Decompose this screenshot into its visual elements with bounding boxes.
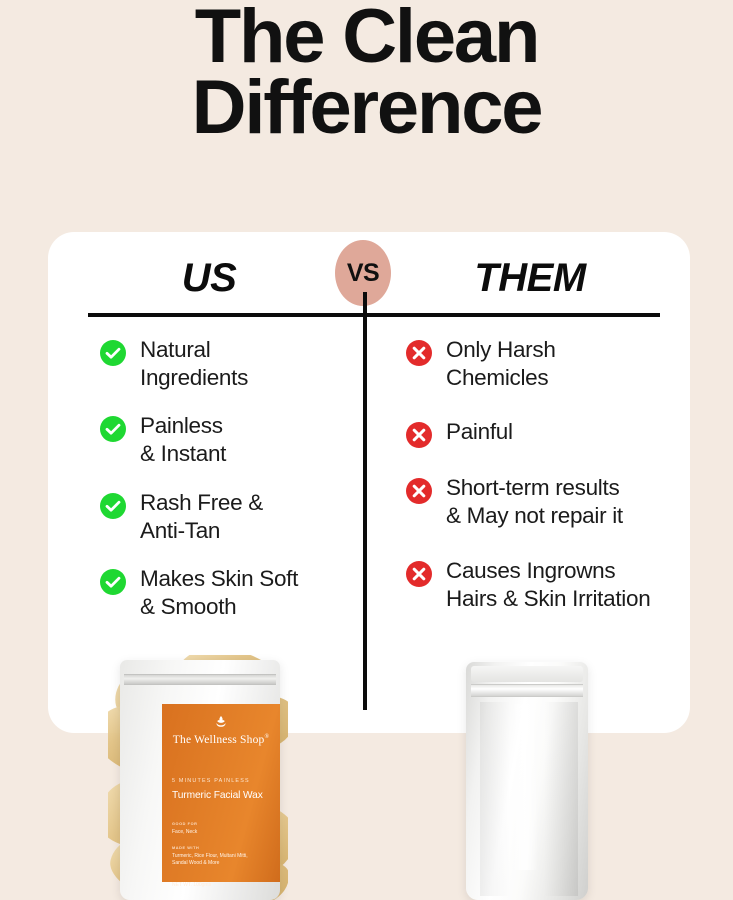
list-item-label: Only Harsh Chemicles: [446, 336, 556, 392]
comparison-card: US VS THEM Natural Ingredients Painless: [48, 232, 690, 733]
cross-circle-icon: [406, 422, 432, 448]
brand-name: The Wellness Shop®: [162, 734, 280, 746]
list-item: Only Harsh Chemicles: [406, 336, 684, 392]
cross-circle-icon: [406, 340, 432, 366]
us-column-heading: US: [48, 256, 370, 301]
product-kicker: 5 MINUTES PAINLESS: [172, 778, 250, 784]
list-item-label: Causes Ingrowns Hairs & Skin Irritation: [446, 557, 650, 613]
page-title: The Clean Difference: [0, 0, 733, 143]
comparison-header: US VS THEM: [48, 232, 690, 314]
list-item-label: Natural Ingredients: [140, 336, 248, 392]
list-item: Painful: [406, 418, 684, 448]
them-column: Only Harsh Chemicles Painful Short-term …: [406, 336, 684, 639]
product-name: Turmeric Facial Wax: [172, 790, 263, 801]
trademark-symbol: ®: [264, 734, 269, 740]
list-item-label: Rash Free & Anti-Tan: [140, 489, 263, 545]
title-line-2: Difference: [0, 73, 733, 144]
check-circle-icon: [100, 340, 126, 366]
list-item: Short-term results & May not repair it: [406, 474, 684, 530]
good-for-heading: GOOD FOR: [172, 822, 197, 826]
list-item-label: Painless & Instant: [140, 412, 226, 468]
check-circle-icon: [100, 569, 126, 595]
list-item-label: Short-term results & May not repair it: [446, 474, 623, 530]
check-circle-icon: [100, 493, 126, 519]
cross-circle-icon: [406, 478, 432, 504]
good-for-body: Face, Neck: [172, 829, 197, 836]
list-item: Natural Ingredients: [100, 336, 352, 392]
column-divider: [363, 292, 367, 710]
made-with-body: Turmeric, Rice Flour, Multani Mitti, San…: [172, 853, 248, 867]
title-line-1: The Clean: [0, 2, 733, 73]
list-item: Makes Skin Soft & Smooth: [100, 565, 352, 621]
list-item: Rash Free & Anti-Tan: [100, 489, 352, 545]
list-item: Causes Ingrowns Hairs & Skin Irritation: [406, 557, 684, 613]
list-item: Painless & Instant: [100, 412, 352, 468]
cross-circle-icon: [406, 561, 432, 587]
list-item-label: Painful: [446, 418, 513, 446]
net-weight: NET WT. 100gms: [172, 882, 211, 888]
brand-name-text: The Wellness Shop: [173, 734, 265, 746]
us-column: Natural Ingredients Painless & Instant R…: [100, 336, 352, 641]
header-divider: [88, 313, 660, 317]
list-item-label: Makes Skin Soft & Smooth: [140, 565, 298, 621]
them-column-heading: THEM: [370, 256, 690, 301]
check-circle-icon: [100, 416, 126, 442]
made-with-heading: MADE WITH: [172, 846, 199, 850]
